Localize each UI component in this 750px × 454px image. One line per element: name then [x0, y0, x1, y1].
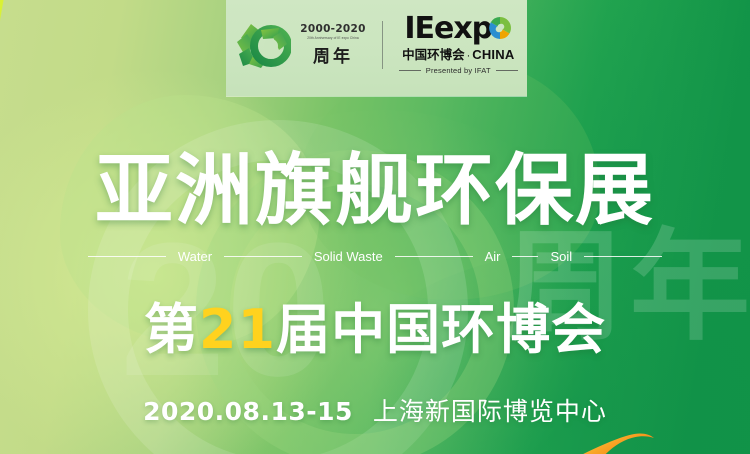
category-rule: [395, 256, 473, 257]
poster-headline: 亚洲旗舰环保展: [0, 152, 750, 230]
category-rule: [224, 256, 302, 257]
category-air: Air: [473, 249, 513, 264]
anniversary-20-recycle-emblem-icon: [235, 20, 291, 70]
category-rule: [584, 256, 662, 257]
logo-divider: [382, 21, 383, 69]
presented-by-rule-left: [399, 70, 421, 71]
ieexpo-cn-row: 中国环博会 · CHINA: [402, 44, 514, 63]
edition-number: 21: [199, 298, 276, 361]
ieexpo-wordmark: IEexp: [404, 15, 492, 44]
ieexpo-separator-dot: ·: [467, 50, 471, 62]
category-strip: Water Solid Waste Air Soil: [0, 249, 750, 264]
ieexpo-wordmark-row: IEexp: [404, 15, 512, 44]
anniversary-block: 2000-2020 20th Anniversary of IE expo Ch…: [300, 23, 366, 67]
ieexpo-cn-name: 中国环博会: [402, 44, 465, 63]
presented-by-rule-right: [496, 70, 518, 71]
subheadline-prefix: 第: [144, 298, 199, 361]
category-water: Water: [166, 249, 224, 264]
poster-subheadline: 第21届中国环博会: [0, 303, 750, 357]
anniversary-years: 2000-2020: [300, 23, 366, 35]
logo-lockup: 2000-2020 20th Anniversary of IE expo Ch…: [235, 15, 517, 82]
event-date: 2020.08.13-15: [143, 397, 353, 426]
category-rule: [512, 256, 538, 257]
presented-by-row: Presented by IFAT: [399, 66, 518, 75]
anniversary-fine-print: 20th Anniversary of IE expo China: [307, 36, 359, 40]
category-rule: [88, 256, 166, 257]
ieexpo-brand-block: IEexp 中国环博会 · CHINA: [399, 15, 518, 76]
ieexpo-o-swirl-icon: [488, 16, 512, 40]
subheadline-suffix: 届中国环博会: [276, 298, 606, 361]
anniversary-label: 周年: [313, 42, 353, 67]
category-solid-waste: Solid Waste: [302, 249, 395, 264]
ieexpo-poster: 20 周年: [0, 0, 750, 454]
ieexpo-country: CHINA: [472, 47, 514, 62]
orange-flame-leaf-icon: [566, 402, 662, 454]
presented-by-text: Presented by IFAT: [426, 66, 491, 75]
category-soil: Soil: [538, 249, 584, 264]
logo-panel: 2000-2020 20th Anniversary of IE expo Ch…: [226, 0, 527, 96]
